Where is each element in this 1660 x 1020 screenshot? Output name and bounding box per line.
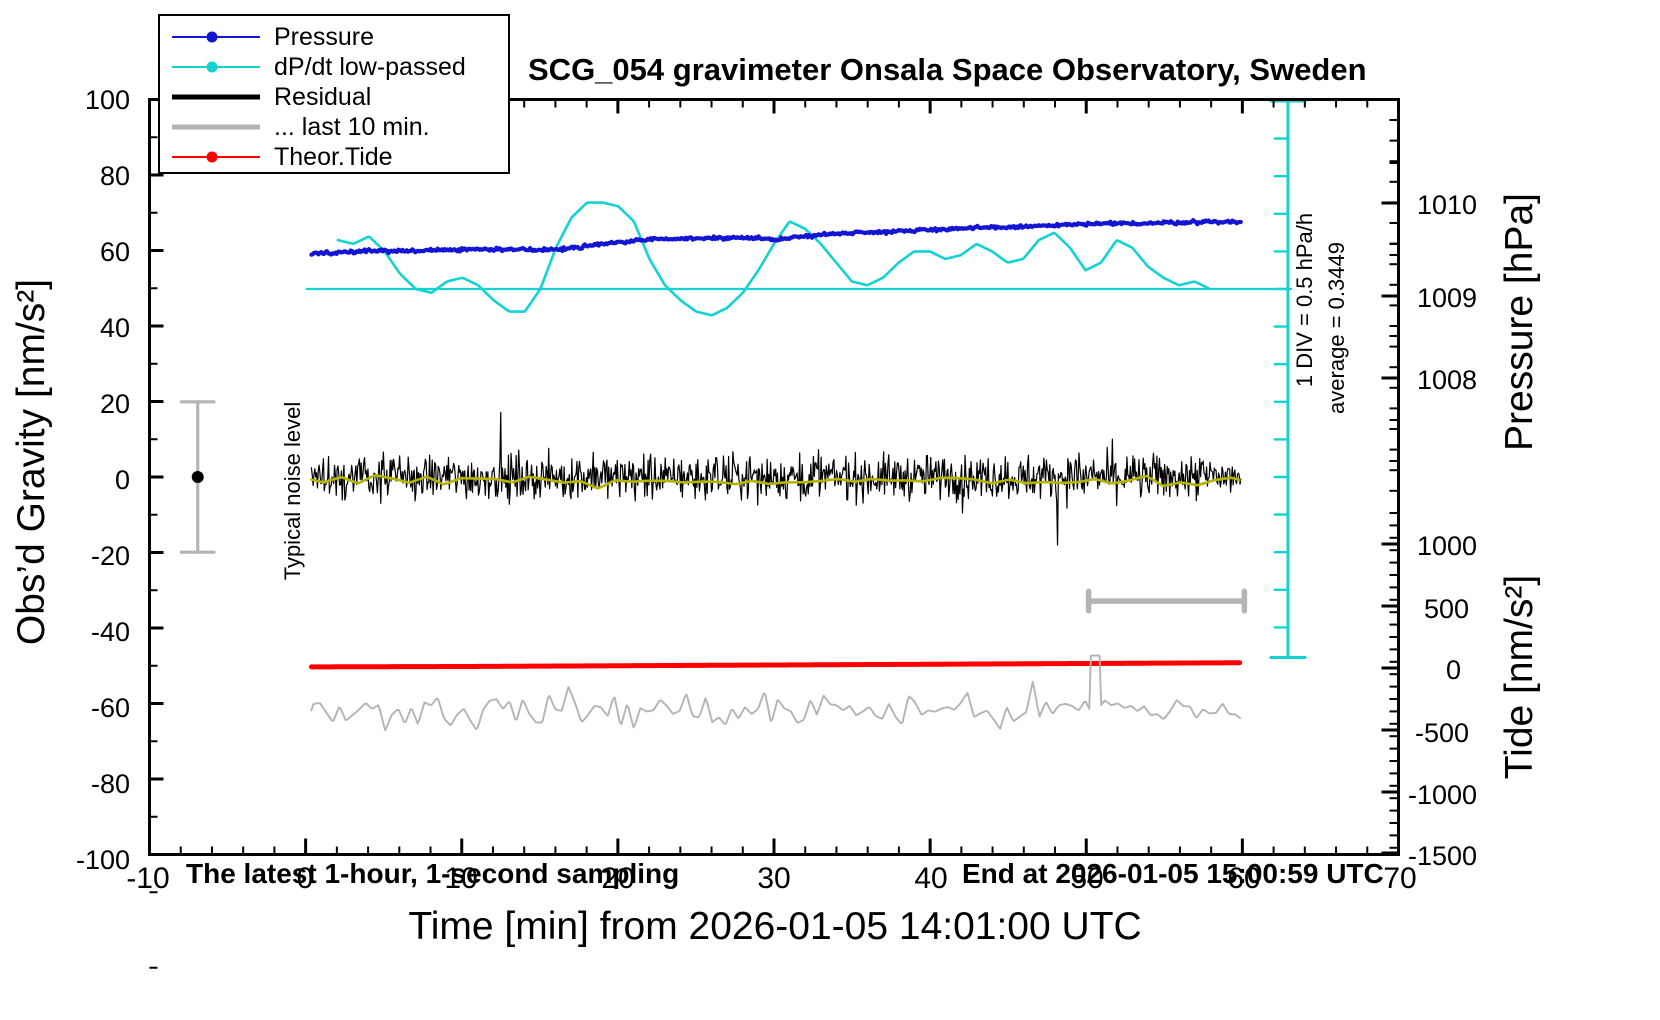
rtick-label-pressure: 1008 xyxy=(1417,365,1477,396)
plot-svg xyxy=(151,101,1397,853)
pressure-line xyxy=(311,220,1240,254)
xtick-label: -10 xyxy=(108,862,188,896)
plot-area xyxy=(148,98,1400,856)
rtick-label-tide: -1000 xyxy=(1408,780,1477,811)
legend-label: Pressure xyxy=(274,25,374,50)
rtick-label-tide: -500 xyxy=(1415,718,1469,749)
end-time-note: End at 2026-01-05 15:00:59 UTC xyxy=(962,858,1384,890)
x-axis-label: Time [min] from 2026-01-05 14:01:00 UTC xyxy=(140,905,1410,949)
xtick-label: 30 xyxy=(734,862,814,896)
legend-label: Theor.Tide xyxy=(274,145,393,170)
noise-level-label: Typical noise level xyxy=(280,386,306,596)
dpdt-lowpassed-line xyxy=(338,203,1209,316)
legend-swatch-last10 xyxy=(172,118,260,136)
ytick-label: -80 xyxy=(0,769,130,800)
legend-item-residual[interactable]: Residual xyxy=(160,82,508,112)
ytick-label: -20 xyxy=(0,541,130,572)
residual-line xyxy=(311,412,1240,545)
legend-label: dP/dt low-passed xyxy=(274,55,466,80)
legend-item-pressure[interactable]: Pressure xyxy=(160,22,508,52)
average-label: average = 0.3449 xyxy=(1324,213,1350,443)
page-title: SCG_054 gravimeter Onsala Space Observat… xyxy=(528,52,1367,88)
legend-item-dpdt[interactable]: dP/dt low-passed xyxy=(160,52,508,82)
legend-swatch-pressure xyxy=(172,28,260,46)
legend-label: Residual xyxy=(274,85,371,110)
ytick-label: 80 xyxy=(0,161,130,192)
legend-swatch-theortide xyxy=(172,148,260,166)
plot-canvas xyxy=(151,101,1397,853)
rtick-label-tide: 500 xyxy=(1424,594,1469,625)
legend-swatch-residual xyxy=(172,88,260,106)
rtick-label-tide: 1000 xyxy=(1417,531,1477,562)
noise-bar-center-dot xyxy=(192,471,204,483)
ytick-label: 20 xyxy=(0,389,130,420)
gravimeter-plot-page: SCG_054 gravimeter Onsala Space Observat… xyxy=(0,0,1660,1020)
legend-label: ... last 10 min. xyxy=(274,115,430,140)
sampling-note: The latest 1-hour, 1-second sampling xyxy=(186,858,679,890)
legend-item-theortide[interactable]: Theor.Tide xyxy=(160,142,508,172)
ytick-label: 60 xyxy=(0,237,130,268)
ytick-label: -60 xyxy=(0,693,130,724)
div-scale-label: 1 DIV = 0.5 hPa/h xyxy=(1292,185,1318,415)
ytick-label: -40 xyxy=(0,617,130,648)
y-axis-label-tide: Tide [nm/s²] xyxy=(1498,487,1542,867)
rtick-label-pressure: 1010 xyxy=(1417,190,1477,221)
legend-swatch-dpdt xyxy=(172,58,260,76)
legend-item-last10[interactable]: ... last 10 min. xyxy=(160,112,508,142)
rtick-label-tide: 0 xyxy=(1446,655,1461,686)
rtick-label-pressure: 1009 xyxy=(1417,283,1477,314)
ytick-label: 100 xyxy=(0,85,130,116)
y-axis-label-pressure: Pressure [hPa] xyxy=(1498,112,1542,532)
ytick-label: 40 xyxy=(0,313,130,344)
ytick-label: 0 xyxy=(0,465,130,496)
legend: Pressure dP/dt low-passed Residual ... l… xyxy=(158,14,510,174)
xtick-label: 40 xyxy=(891,862,971,896)
